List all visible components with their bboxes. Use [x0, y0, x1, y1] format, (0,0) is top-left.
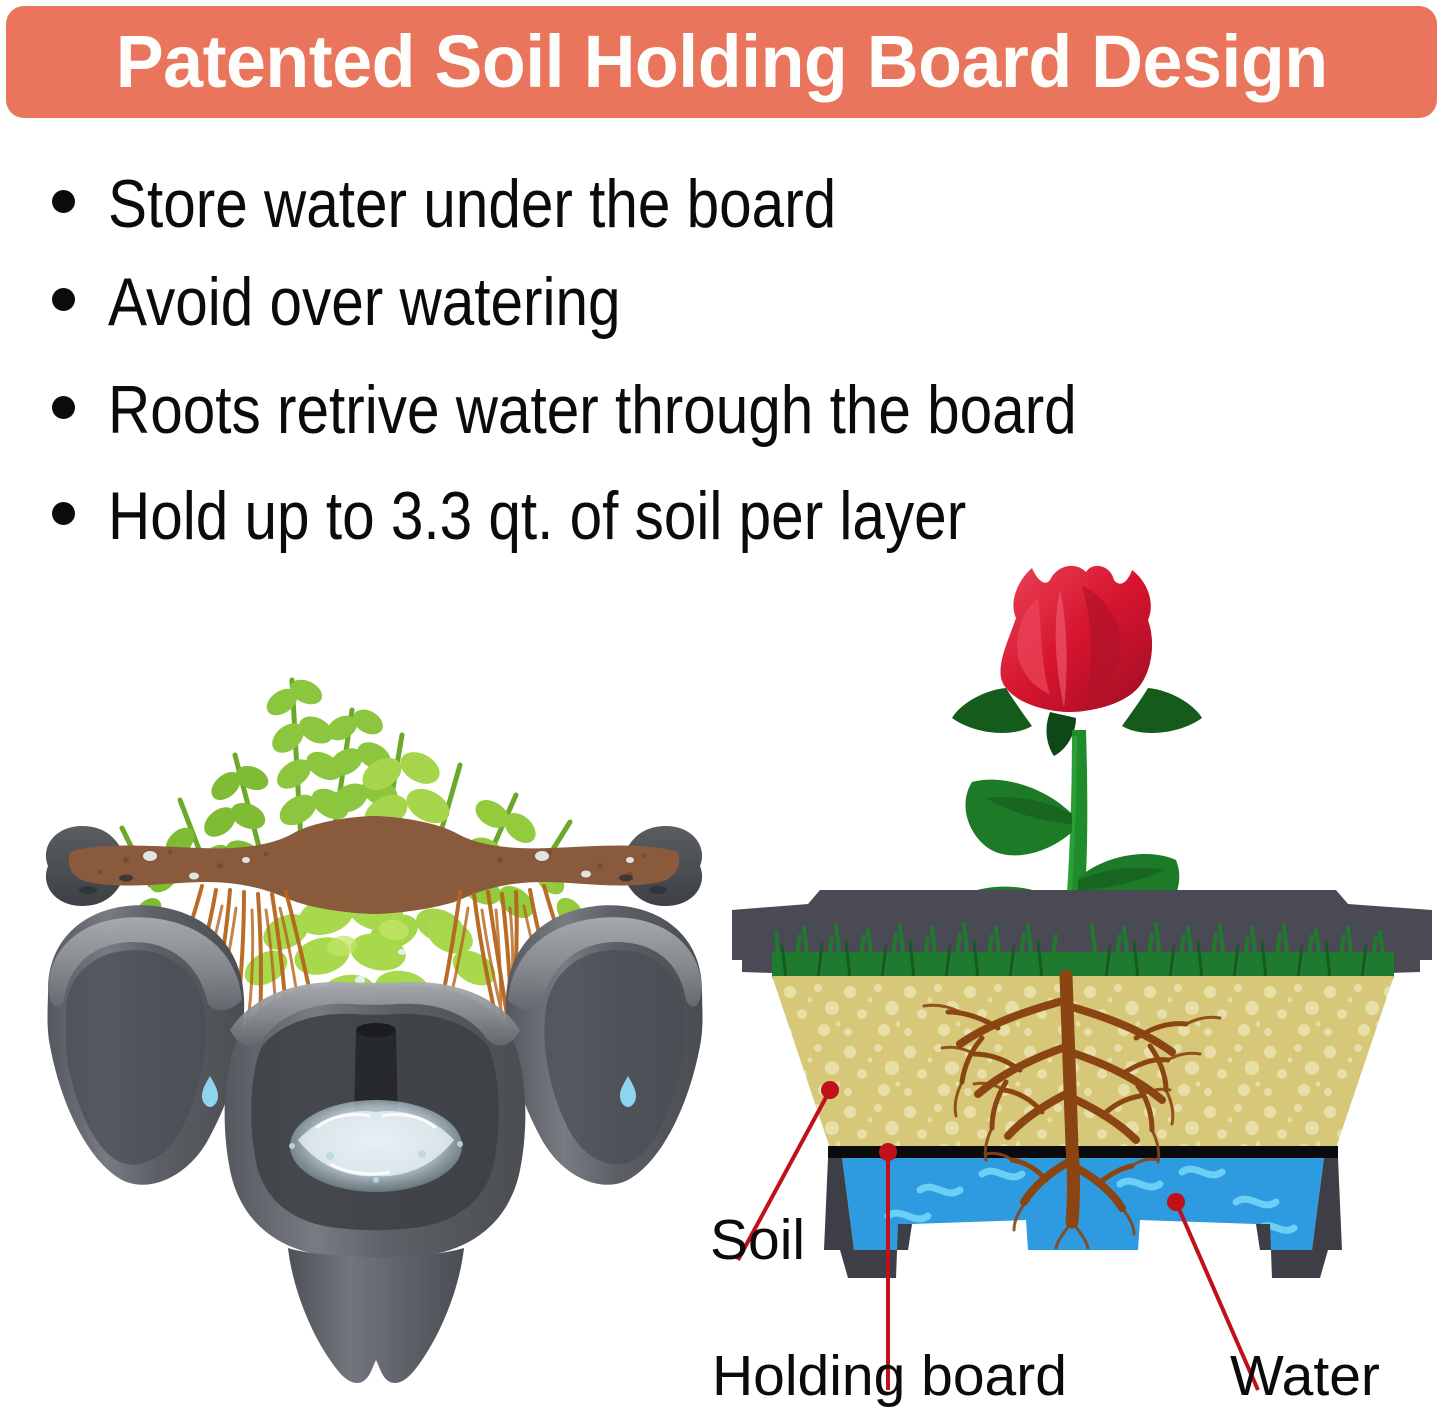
soil-layer — [772, 976, 1394, 1148]
callout-label-holding-board: Holding board — [712, 1348, 1067, 1405]
holding-board — [828, 1146, 1338, 1159]
feature-text: Store water under the board — [108, 170, 836, 238]
cross-section-diagram — [720, 560, 1445, 1415]
product-photo — [30, 560, 720, 1405]
callout-label-water: Water — [1230, 1348, 1380, 1405]
feature-text: Hold up to 3.3 qt. of soil per layer — [108, 482, 966, 550]
rose-flower — [952, 566, 1202, 756]
feature-text: Avoid over watering — [108, 268, 621, 336]
list-item: Hold up to 3.3 qt. of soil per layer — [52, 482, 1106, 550]
callout-label-soil: Soil — [710, 1212, 805, 1269]
page-title: Patented Soil Holding Board Design — [116, 25, 1328, 99]
header-banner: Patented Soil Holding Board Design — [6, 6, 1437, 118]
feature-text: Roots retrive water through the board — [108, 376, 1077, 444]
feature-list: Store water under the board Avoid over w… — [0, 140, 1445, 570]
water-splash — [289, 1100, 463, 1192]
bullet-dot-icon — [52, 288, 75, 311]
bullet-dot-icon — [52, 190, 75, 213]
planter-body — [48, 905, 703, 1383]
list-item: Roots retrive water through the board — [52, 376, 1234, 444]
bullet-dot-icon — [52, 396, 75, 419]
bullet-dot-icon — [52, 502, 75, 525]
list-item: Avoid over watering — [52, 268, 704, 336]
list-item: Store water under the board — [52, 170, 955, 238]
